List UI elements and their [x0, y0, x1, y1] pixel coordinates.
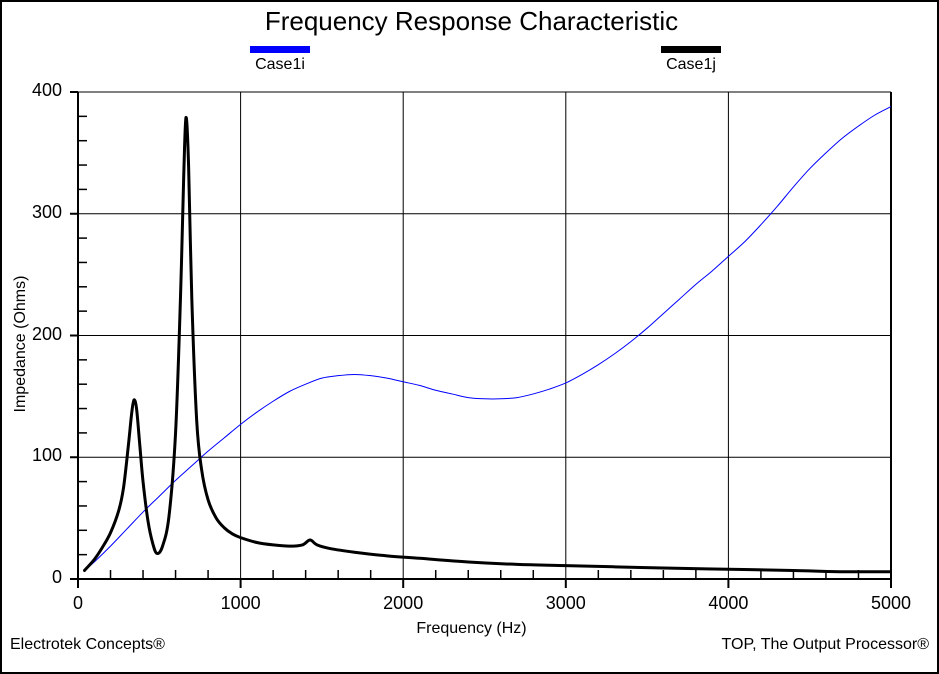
- footer-right-text: TOP, The Output Processor®: [722, 636, 929, 654]
- plot-area: [2, 2, 939, 674]
- y-tick-label: 100: [2, 445, 62, 466]
- x-tick-label: 4000: [683, 593, 773, 614]
- y-tick-label: 400: [2, 80, 62, 101]
- y-tick-label: 300: [2, 202, 62, 223]
- series-line-case1j: [85, 117, 892, 571]
- series-line-case1i: [85, 107, 892, 571]
- y-tick-label: 200: [2, 324, 62, 345]
- x-tick-label: 2000: [358, 593, 448, 614]
- x-tick-label: 0: [33, 593, 123, 614]
- y-tick-label: 0: [2, 567, 62, 588]
- x-tick-label: 5000: [846, 593, 936, 614]
- chart-window: Frequency Response Characteristic Case1i…: [0, 0, 939, 674]
- footer-left-text: Electrotek Concepts®: [10, 636, 165, 654]
- x-tick-label: 3000: [521, 593, 611, 614]
- x-tick-label: 1000: [196, 593, 286, 614]
